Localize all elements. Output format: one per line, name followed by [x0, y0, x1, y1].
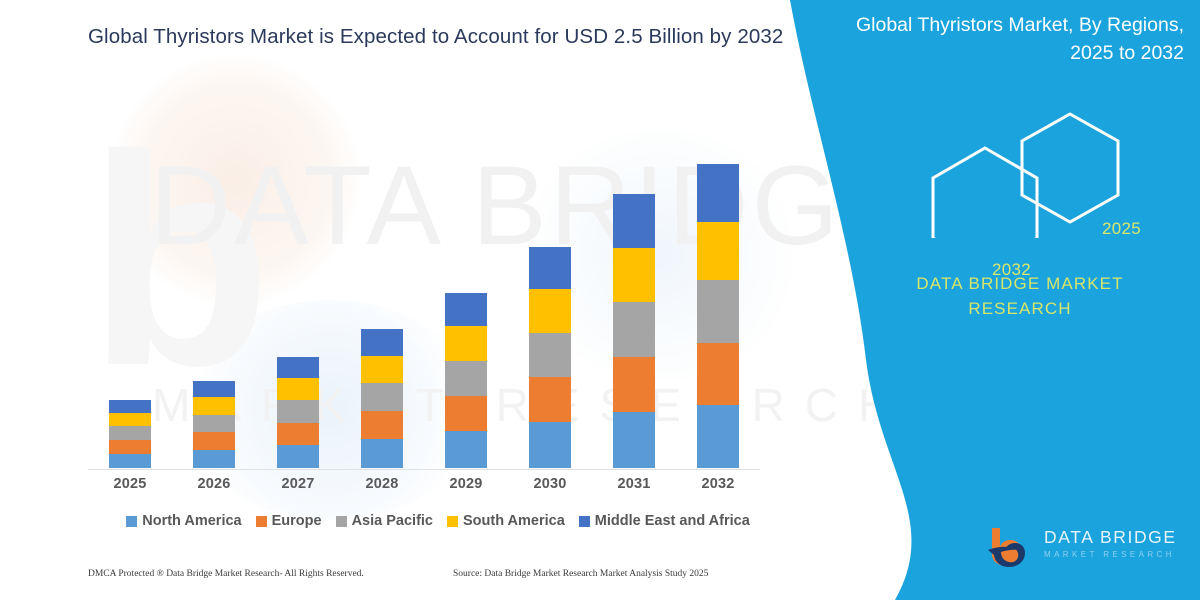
legend-label: Asia Pacific: [352, 513, 433, 529]
legend-swatch-icon: [256, 516, 267, 527]
bar-segment[interactable]: [277, 400, 319, 422]
legend-label: Middle East and Africa: [595, 513, 750, 529]
bar-segment[interactable]: [361, 439, 403, 468]
bar-segment[interactable]: [277, 357, 319, 378]
stacked-bar[interactable]: [445, 293, 487, 468]
x-axis-label: 2025: [88, 476, 172, 492]
bar-segment[interactable]: [529, 333, 571, 377]
bar-segment[interactable]: [445, 293, 487, 326]
bar-slot: [172, 120, 256, 468]
infographic-root: b DATA BRIDGE MARKET RESEARCH Global Thy…: [0, 0, 1200, 600]
legend-label: South America: [463, 513, 565, 529]
x-axis-labels: 20252026202720282029203020312032: [88, 476, 760, 492]
bar-group: [88, 120, 760, 468]
chart-title: Global Thyristors Market is Expected to …: [88, 24, 788, 51]
hexagon-start-year-label: 2025: [1102, 219, 1141, 239]
bar-segment[interactable]: [361, 411, 403, 439]
bar-segment[interactable]: [445, 431, 487, 468]
stacked-bar[interactable]: [361, 329, 403, 468]
chart-panel: b DATA BRIDGE MARKET RESEARCH Global Thy…: [0, 0, 860, 600]
bar-segment[interactable]: [529, 289, 571, 333]
bar-slot: [340, 120, 424, 468]
bar-segment[interactable]: [613, 248, 655, 302]
bar-segment[interactable]: [361, 356, 403, 383]
chart-legend: North AmericaEuropeAsia PacificSouth Ame…: [88, 513, 788, 529]
legend-swatch-icon: [447, 516, 458, 527]
logo-text-block: DATA BRIDGE MARKET RESEARCH: [1044, 528, 1194, 560]
bar-segment[interactable]: [697, 222, 739, 280]
brand-name-text: DATA BRIDGE MARKET RESEARCH: [850, 272, 1190, 321]
bar-segment[interactable]: [109, 454, 151, 469]
bar-slot: [508, 120, 592, 468]
legend-label: North America: [142, 513, 241, 529]
company-logo: DATA BRIDGE MARKET RESEARCH: [988, 524, 1188, 572]
x-axis-label: 2030: [508, 476, 592, 492]
stacked-bar[interactable]: [697, 164, 739, 468]
legend-item[interactable]: Europe: [256, 513, 322, 529]
legend-item[interactable]: North America: [126, 513, 241, 529]
footer: DMCA Protected ® Data Bridge Market Rese…: [88, 569, 788, 579]
year-hexagons: 2025 2032: [920, 108, 1200, 238]
bar-segment[interactable]: [193, 415, 235, 432]
legend-label: Europe: [272, 513, 322, 529]
bar-segment[interactable]: [109, 400, 151, 413]
bar-segment[interactable]: [613, 357, 655, 412]
chart-plot-area: [88, 120, 760, 470]
bar-segment[interactable]: [361, 329, 403, 356]
bar-segment[interactable]: [277, 445, 319, 468]
bar-slot: [592, 120, 676, 468]
x-axis-label: 2026: [172, 476, 256, 492]
logo-company-name: DATA BRIDGE: [1044, 528, 1194, 547]
x-axis-label: 2028: [340, 476, 424, 492]
x-axis-label: 2029: [424, 476, 508, 492]
bar-segment[interactable]: [109, 413, 151, 427]
bar-segment[interactable]: [697, 405, 739, 468]
bar-segment[interactable]: [445, 326, 487, 361]
bar-segment[interactable]: [361, 383, 403, 411]
panel-title-line1: Global Thyristors Market, By Regions,: [856, 14, 1184, 36]
bar-slot: [424, 120, 508, 468]
x-axis-label: 2032: [676, 476, 760, 492]
stacked-bar[interactable]: [193, 381, 235, 468]
footer-source-text: Source: Data Bridge Market Research Mark…: [453, 569, 788, 579]
bar-segment[interactable]: [193, 432, 235, 449]
bar-segment[interactable]: [529, 377, 571, 421]
bar-segment[interactable]: [193, 397, 235, 414]
x-axis-label: 2031: [592, 476, 676, 492]
brand-panel-content: Global Thyristors Market, By Regions, 20…: [830, 0, 1200, 600]
bar-slot: [256, 120, 340, 468]
bar-segment[interactable]: [697, 164, 739, 222]
bar-segment[interactable]: [193, 450, 235, 468]
bar-segment[interactable]: [613, 194, 655, 248]
bar-segment[interactable]: [109, 426, 151, 440]
bar-segment[interactable]: [613, 412, 655, 468]
legend-item[interactable]: Asia Pacific: [336, 513, 433, 529]
footer-dmca-text: DMCA Protected ® Data Bridge Market Rese…: [88, 569, 453, 579]
bar-segment[interactable]: [445, 396, 487, 432]
legend-item[interactable]: Middle East and Africa: [579, 513, 750, 529]
bar-segment[interactable]: [529, 422, 571, 468]
bar-segment[interactable]: [277, 423, 319, 445]
bar-segment[interactable]: [193, 381, 235, 397]
brand-name-line2: RESEARCH: [968, 299, 1071, 318]
logo-tagline: MARKET RESEARCH: [1044, 550, 1194, 560]
panel-title: Global Thyristors Market, By Regions, 20…: [832, 12, 1184, 67]
bar-segment[interactable]: [277, 378, 319, 400]
legend-swatch-icon: [126, 516, 137, 527]
bar-segment[interactable]: [445, 361, 487, 396]
bar-segment[interactable]: [529, 247, 571, 290]
legend-swatch-icon: [579, 516, 590, 527]
bar-segment[interactable]: [697, 343, 739, 405]
stacked-bar[interactable]: [109, 400, 151, 468]
bar-slot: [676, 120, 760, 468]
x-axis-label: 2027: [256, 476, 340, 492]
chart-baseline: [88, 469, 760, 470]
brand-name-line1: DATA BRIDGE MARKET: [916, 274, 1123, 293]
stacked-bar[interactable]: [613, 194, 655, 469]
legend-item[interactable]: South America: [447, 513, 565, 529]
bar-segment[interactable]: [697, 280, 739, 343]
legend-swatch-icon: [336, 516, 347, 527]
bar-segment[interactable]: [109, 440, 151, 454]
stacked-bar[interactable]: [277, 357, 319, 468]
stacked-bar[interactable]: [529, 247, 571, 468]
bar-segment[interactable]: [613, 302, 655, 357]
panel-title-line2: 2025 to 2032: [1070, 42, 1184, 64]
bar-slot: [88, 120, 172, 468]
logo-mark-icon: [988, 524, 1040, 568]
